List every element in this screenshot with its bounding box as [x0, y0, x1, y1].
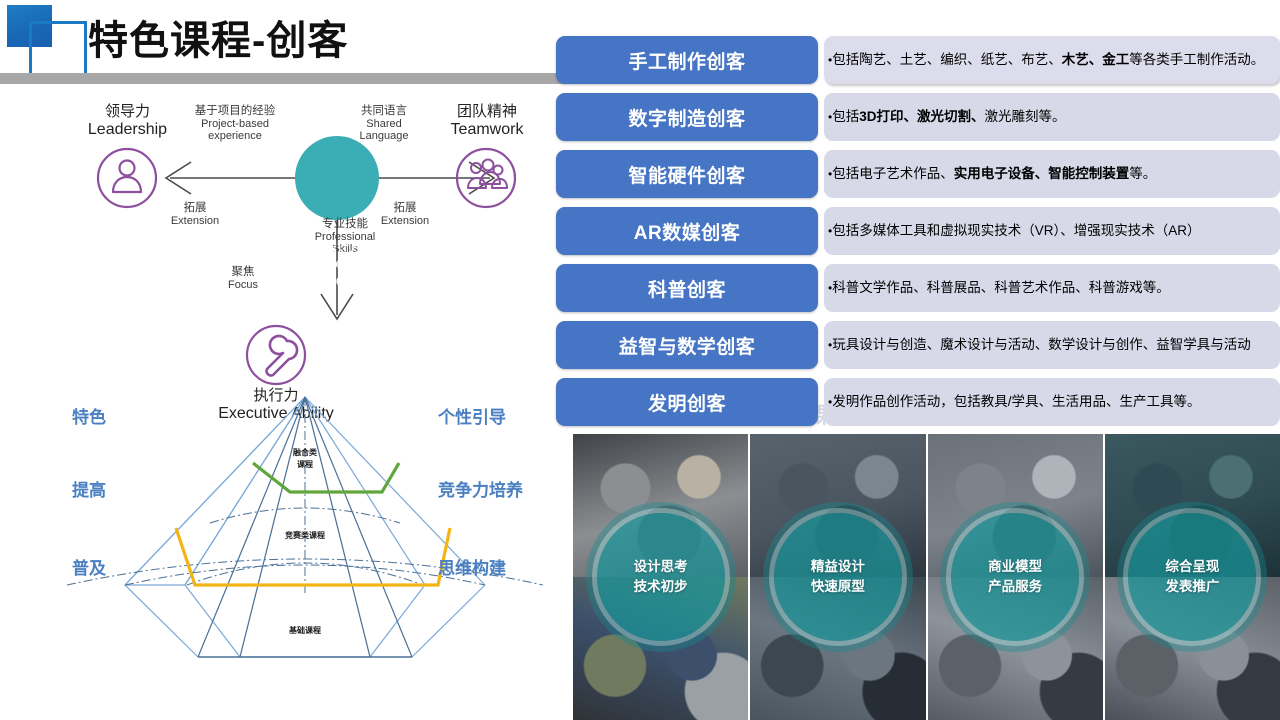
maker-category-description-text: 包括多媒体工具和虚拟现实技术（VR）、增强现实技术（AR） — [832, 223, 1206, 239]
codesign-left-node-label: 领导力 Leadership — [70, 104, 185, 139]
photo-tile: 综合呈现发表推广 — [1105, 434, 1280, 720]
maker-category-description: •发明作品创作活动，包括教具/学具、生活用品、生产工具等。 — [824, 378, 1280, 426]
pyramid-svg — [60, 395, 550, 690]
maker-category-description: •包括电子艺术作品、实用电子设备、智能控制装置等。 — [824, 150, 1280, 198]
maker-category-row: 发明创客•发明作品创作活动，包括教具/学具、生活用品、生产工具等。 — [556, 378, 1280, 426]
photo-stage-badge: 设计思考技术初步 — [597, 513, 725, 641]
maker-category-row: AR数媒创客•包括多媒体工具和虚拟现实技术（VR）、增强现实技术（AR） — [556, 207, 1280, 255]
page-title: 特色课程-创客 — [88, 16, 348, 66]
pyramid-right-label-2: 思维构建 — [438, 554, 506, 579]
photo-stage-badge-line1: 商业模型 — [988, 557, 1042, 577]
maker-category-button[interactable]: 数字制造创客 — [556, 93, 818, 141]
pyramid-right-label-1: 竞争力培养 — [438, 476, 523, 501]
pyramid-left-label-2: 普及 — [72, 554, 106, 579]
maker-category-description: •科普文学作品、科普展品、科普艺术作品、科普游戏等。 — [824, 264, 1280, 312]
maker-category-description-text: 包括3D打印、激光切割、激光雕刻等。 — [832, 109, 1071, 125]
photo-tile: 商业模型产品服务 — [928, 434, 1103, 720]
photo-tile: 设计思考技术初步 — [573, 434, 748, 720]
photo-stage-badge-line2: 产品服务 — [988, 577, 1042, 597]
photo-stage-badge: 商业模型产品服务 — [951, 513, 1079, 641]
maker-category-button[interactable]: 益智与数学创客 — [556, 321, 818, 369]
maker-category-row: 手工制作创客•包括陶艺、土艺、编织、纸艺、布艺、木艺、金工等各类手工制作活动。 — [556, 36, 1280, 84]
maker-category-button[interactable]: 发明创客 — [556, 378, 818, 426]
maker-category-row: 智能硬件创客•包括电子艺术作品、实用电子设备、智能控制装置等。 — [556, 150, 1280, 198]
maker-category-description-text: 科普文学作品、科普展品、科普艺术作品、科普游戏等。 — [832, 280, 1176, 296]
photo-stage-badge-line2: 发表推广 — [1165, 577, 1219, 597]
maker-category-button[interactable]: 智能硬件创客 — [556, 150, 818, 198]
codesign-arrow-down-label: 聚焦 Focus — [208, 266, 278, 291]
photo-stage-badge-line2: 快速原型 — [811, 577, 865, 597]
maker-category-row: 数字制造创客•包括3D打印、激光切割、激光雕刻等。 — [556, 93, 1280, 141]
pyramid-tier-label-base: 基础课程 — [255, 625, 355, 637]
logo-outline-square — [29, 21, 87, 79]
photo-tile: 精益设计快速原型 — [750, 434, 925, 720]
maker-category-description-text: 包括电子艺术作品、实用电子设备、智能控制装置等。 — [832, 166, 1162, 182]
maker-category-label: 发明创客 — [648, 389, 726, 416]
photo-stage-badge-line1: 精益设计 — [811, 557, 865, 577]
photo-stage-badge-line2: 技术初步 — [634, 577, 688, 597]
photo-stage-badge-line1: 综合呈现 — [1165, 557, 1219, 577]
maker-category-label: 手工制作创客 — [628, 47, 745, 74]
maker-category-button[interactable]: 手工制作创客 — [556, 36, 818, 84]
maker-category-button[interactable]: AR数媒创客 — [556, 207, 818, 255]
maker-category-description-text: 玩具设计与创造、魔术设计与活动、数学设计与创作、益智学具与活动 — [832, 337, 1257, 353]
pyramid-left-label-0: 特色 — [72, 403, 106, 428]
photo-stage-badge-line1: 设计思考 — [634, 557, 688, 577]
maker-category-row: 益智与数学创客•玩具设计与创造、魔术设计与活动、数学设计与创作、益智学具与活动 — [556, 321, 1280, 369]
codesign-edge-top-left-label: 基于项目的经验 Project-based experience — [170, 105, 300, 143]
pyramid-left-label-1: 提高 — [72, 476, 106, 501]
codesign-right-node-label: 团队精神 Teamwork — [428, 104, 546, 139]
header-divider-rule — [0, 73, 580, 84]
maker-category-label: AR数媒创客 — [634, 218, 740, 245]
maker-category-description: •玩具设计与创造、魔术设计与活动、数学设计与创作、益智学具与活动 — [824, 321, 1280, 369]
maker-category-description: •包括陶艺、土艺、编织、纸艺、布艺、木艺、金工等各类手工制作活动。 — [824, 36, 1280, 84]
photo-stage-badge: 综合呈现发表推广 — [1128, 513, 1256, 641]
course-pyramid-diagram: 特色 提高 普及 个性引导 竞争力培养 思维构建 融合类 课程 竞赛类课程 基础… — [60, 395, 550, 690]
maker-category-description-text: 包括陶艺、土艺、编织、纸艺、布艺、木艺、金工等各类手工制作活动。 — [832, 52, 1270, 68]
maker-category-list: 手工制作创客•包括陶艺、土艺、编织、纸艺、布艺、木艺、金工等各类手工制作活动。数… — [556, 36, 1280, 435]
pyramid-tier-label-top: 融合类 课程 — [255, 447, 355, 470]
photo-stage-badge: 精益设计快速原型 — [774, 513, 902, 641]
maker-category-row: 科普创客•科普文学作品、科普展品、科普艺术作品、科普游戏等。 — [556, 264, 1280, 312]
codesign-center-label: 协同设计方法 Co-design Methodology — [291, 240, 383, 289]
maker-category-label: 科普创客 — [648, 275, 726, 302]
codesign-arrow-right-label: 拓展 Extension — [360, 202, 450, 227]
maker-category-label: 数字制造创客 — [628, 104, 745, 131]
maker-category-label: 智能硬件创客 — [628, 161, 745, 188]
maker-category-description: •包括多媒体工具和虚拟现实技术（VR）、增强现实技术（AR） — [824, 207, 1280, 255]
photo-strip: 设计思考技术初步精益设计快速原型商业模型产品服务综合呈现发表推广 — [573, 434, 1280, 720]
codesign-arrow-left-label: 拓展 Extension — [150, 202, 240, 227]
pyramid-right-label-0: 个性引导 — [438, 403, 506, 428]
pyramid-tier-label-middle: 竞赛类课程 — [255, 530, 355, 542]
slide-root: 特色课程-创客 — [0, 0, 1280, 720]
maker-category-description-text: 发明作品创作活动，包括教具/学具、生活用品、生产工具等。 — [832, 394, 1206, 410]
codesign-methodology-diagram: 领导力 Leadership 团队精神 Teamwork 执行力 Executi… — [60, 100, 540, 395]
codesign-edge-top-right-label: 共同语言 Shared Language — [328, 105, 440, 143]
maker-category-label: 益智与数学创客 — [619, 332, 756, 359]
maker-category-button[interactable]: 科普创客 — [556, 264, 818, 312]
maker-category-description: •包括3D打印、激光切割、激光雕刻等。 — [824, 93, 1280, 141]
